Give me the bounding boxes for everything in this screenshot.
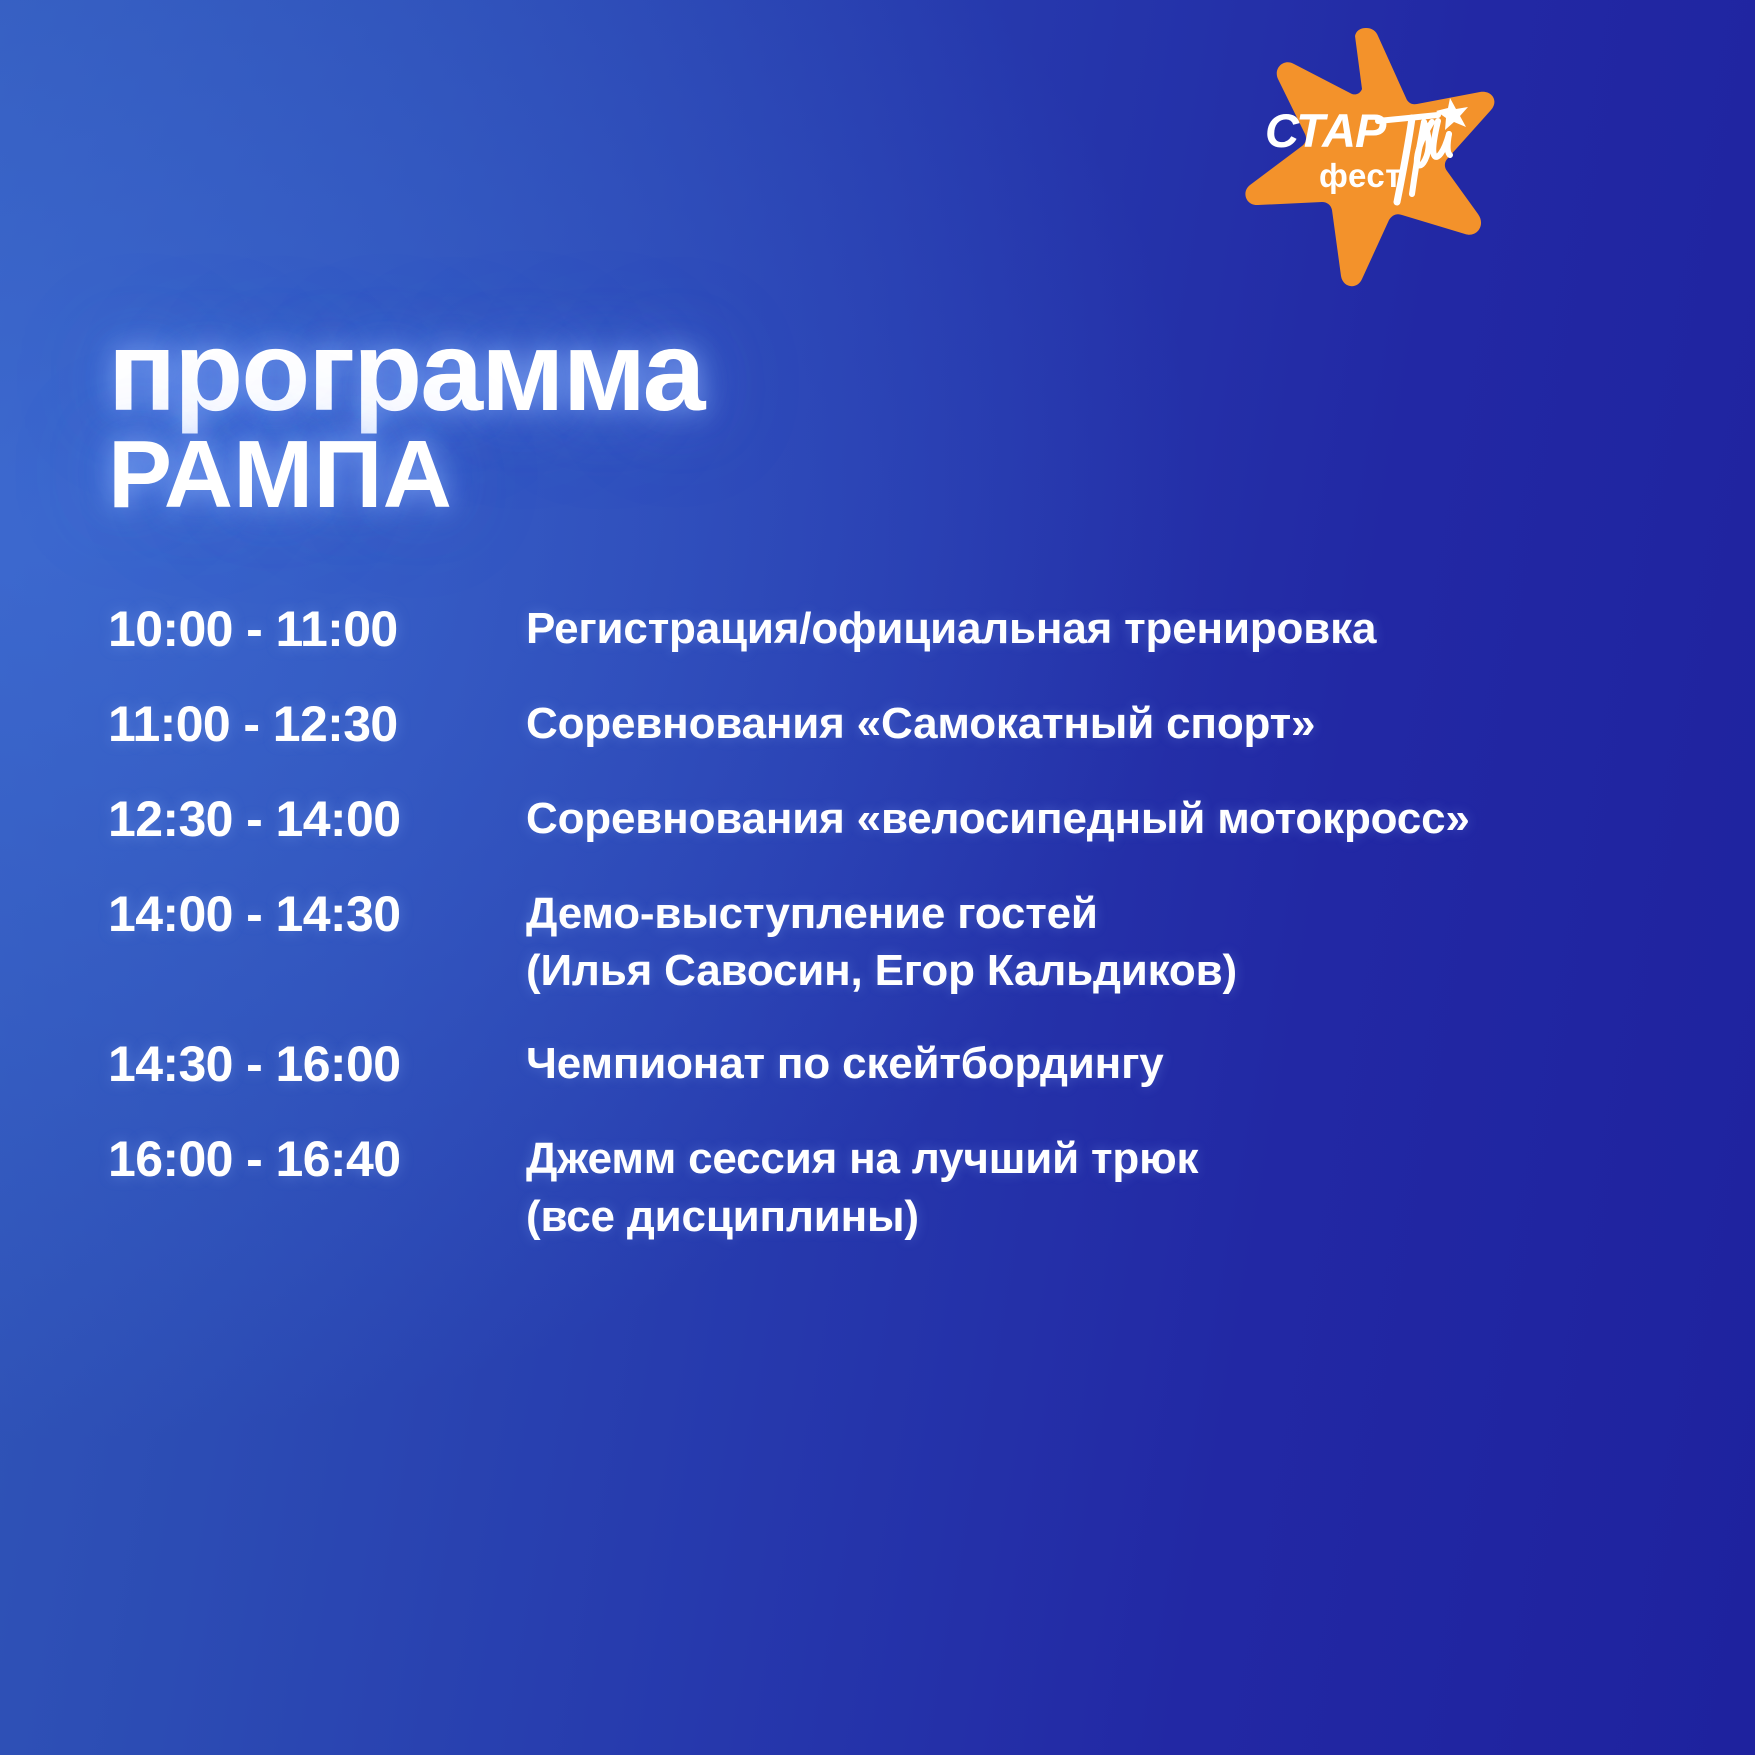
schedule-row: 14:00 - 14:30 Демо-выступление гостей (И…: [108, 885, 1678, 999]
logo-wordmark: СТАР: [1265, 104, 1387, 157]
schedule-description-line1: Чемпионат по скейтбордингу: [526, 1039, 1164, 1088]
poster-canvas: СТАР фест программа РАМПА 10:00: [0, 0, 1755, 1755]
schedule-time: 12:30 - 14:00: [108, 790, 526, 849]
startour-fest-logo: СТАР фест: [1216, 22, 1516, 290]
schedule-row: 16:00 - 16:40 Джемм сессия на лучший трю…: [108, 1130, 1678, 1244]
schedule-time: 14:30 - 16:00: [108, 1035, 526, 1094]
page-title-line2: РАМПА: [108, 430, 1308, 520]
schedule-description: Джемм сессия на лучший трюк (все дисципл…: [526, 1130, 1678, 1244]
logo-subword: фест: [1319, 157, 1402, 194]
schedule-row: 12:30 - 14:00 Соревнования «велосипедный…: [108, 790, 1678, 849]
schedule-row: 14:30 - 16:00 Чемпионат по скейтбордингу: [108, 1035, 1678, 1094]
schedule-description-line1: Соревнования «Самокатный спорт»: [526, 699, 1315, 748]
schedule-description-line1: Демо-выступление гостей: [526, 889, 1098, 938]
page-title: программа РАМПА: [108, 318, 1308, 520]
schedule-time: 16:00 - 16:40: [108, 1130, 526, 1189]
schedule-description: Регистрация/официальная тренировка: [526, 600, 1678, 657]
schedule-list: 10:00 - 11:00 Регистрация/официальная тр…: [108, 600, 1678, 1245]
schedule-description-line1: Соревнования «велосипедный мотокросс»: [526, 794, 1470, 843]
schedule-description-line1: Джемм сессия на лучший трюк: [526, 1134, 1198, 1183]
schedule-time: 14:00 - 14:30: [108, 885, 526, 944]
schedule-description-line2: (все дисциплины): [526, 1188, 1678, 1245]
page-title-line1: программа: [108, 318, 1308, 424]
schedule-time: 11:00 - 12:30: [108, 695, 526, 754]
schedule-description: Демо-выступление гостей (Илья Савосин, Е…: [526, 885, 1678, 999]
schedule-description-line2: (Илья Савосин, Егор Кальдиков): [526, 942, 1678, 999]
schedule-description: Соревнования «Самокатный спорт»: [526, 695, 1678, 752]
schedule-row: 10:00 - 11:00 Регистрация/официальная тр…: [108, 600, 1678, 659]
schedule-time: 10:00 - 11:00: [108, 600, 526, 659]
schedule-description: Чемпионат по скейтбордингу: [526, 1035, 1678, 1092]
schedule-description-line1: Регистрация/официальная тренировка: [526, 604, 1376, 653]
schedule-row: 11:00 - 12:30 Соревнования «Самокатный с…: [108, 695, 1678, 754]
schedule-description: Соревнования «велосипедный мотокросс»: [526, 790, 1678, 847]
